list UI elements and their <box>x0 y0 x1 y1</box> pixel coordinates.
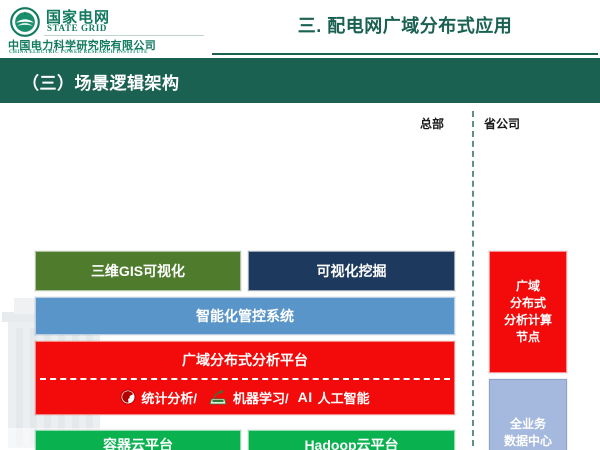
radiation-icon <box>120 389 136 405</box>
block-container-cloud-title[interactable]: 容器云平台 <box>35 430 241 450</box>
data-center-group-a: 全业务 数据中心 <box>504 416 552 450</box>
column-header-headquarters: 总部 <box>420 115 444 132</box>
wide-area-platform-capabilities: 统计分析/ 机器学习/ AI 人工智能 <box>36 380 454 414</box>
capability-ai-label: 人工智能 <box>318 388 370 407</box>
state-grid-emblem-icon <box>10 7 40 37</box>
section-bar: （三）场景逻辑架构 <box>0 58 600 103</box>
block-hadoop-cloud-title[interactable]: Hadoop云平台 <box>248 430 455 450</box>
capability-machine-learning-label: 机器学习/ <box>233 388 289 407</box>
diagram-canvas: 总部 省公司 三维GIS可视化 可视化挖掘 智能化管控系统 广域分布式分析平台 <box>0 103 600 450</box>
block-smart-control-system[interactable]: 智能化管控系统 <box>35 297 455 335</box>
capability-statistics-label: 统计分析/ <box>141 388 197 407</box>
province-node-line-1: 广域 <box>516 278 540 295</box>
data-center-line-2: 数据中心 <box>504 433 552 450</box>
wide-area-platform-title: 广域分布式分析平台 <box>36 342 454 378</box>
capability-ai-mark: AI <box>298 389 313 405</box>
column-separator <box>472 111 474 446</box>
data-center-line-1: 全业务 <box>504 416 552 433</box>
column-header-province: 省公司 <box>484 115 520 132</box>
block-wide-area-platform[interactable]: 广域分布式分析平台 统计分析/ <box>35 341 455 415</box>
province-node-line-2: 分布式 <box>510 295 546 312</box>
slide-header: 国家电网 STATE GRID 中国电力科学研究院有限公司 CHINA ELEC… <box>0 0 600 58</box>
province-node-line-4: 节点 <box>516 329 540 346</box>
brand-logo: 国家电网 STATE GRID 中国电力科学研究院有限公司 CHINA ELEC… <box>6 4 211 56</box>
page-title: 三. 配电网广域分布式应用 <box>210 12 600 38</box>
block-visual-mining[interactable]: 可视化挖掘 <box>248 251 455 291</box>
block-province-analysis-node[interactable]: 广域 分布式 分析计算 节点 <box>489 251 567 373</box>
machine-icon <box>208 389 228 405</box>
brand-name-en: STATE GRID <box>47 23 107 33</box>
header-underline <box>212 53 598 55</box>
block-gis-visualization[interactable]: 三维GIS可视化 <box>35 251 241 291</box>
header-title-band: 三. 配电网广域分布式应用 <box>210 0 600 58</box>
province-node-line-3: 分析计算 <box>504 312 552 329</box>
logo-divider <box>44 35 204 36</box>
block-province-data-center[interactable]: 全业务 数据中心 大数据 平台 <box>489 379 567 450</box>
slide-root: 国家电网 STATE GRID 中国电力科学研究院有限公司 CHINA ELEC… <box>0 0 600 450</box>
company-name-en: CHINA ELECTRIC POWER RESEARCH INSTITUTE <box>9 50 148 55</box>
section-title: （三）场景逻辑架构 <box>22 69 180 94</box>
